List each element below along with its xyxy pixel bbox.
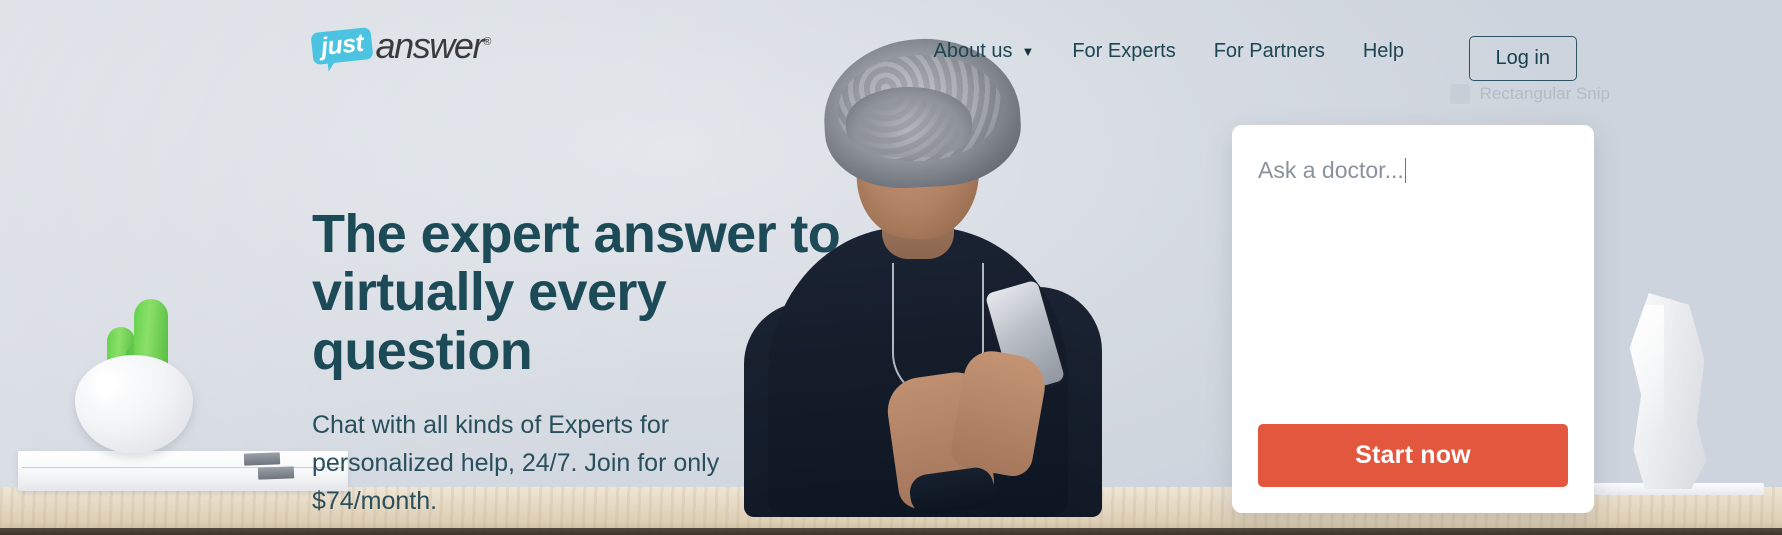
- logo-answer-text: answer®: [375, 28, 489, 64]
- cactus-pot: [75, 355, 193, 453]
- headline-line-1: The expert answer to: [312, 204, 840, 264]
- desk-block-lower: [258, 466, 294, 479]
- text-cursor: [1405, 158, 1407, 183]
- nav-label-for-partners: For Partners: [1214, 40, 1325, 63]
- nav-label-for-experts: For Experts: [1072, 40, 1175, 63]
- book-stack: [18, 451, 348, 491]
- chevron-down-icon: ▼: [1021, 45, 1034, 58]
- nav-item-for-partners[interactable]: For Partners: [1214, 40, 1325, 63]
- logo-just-text: just: [320, 29, 365, 61]
- ask-input-placeholder: Ask a doctor...: [1258, 157, 1404, 184]
- justanswer-logo[interactable]: just answer®: [312, 28, 490, 62]
- hero-subtext: Chat with all kinds of Experts for perso…: [312, 406, 812, 520]
- desk-block-upper: [244, 452, 280, 465]
- nav-item-about-us[interactable]: About us ▼: [934, 40, 1035, 63]
- nav-label-about-us: About us: [934, 40, 1013, 63]
- ask-input-row[interactable]: Ask a doctor...: [1258, 157, 1568, 184]
- headline-line-2: virtually every question: [312, 262, 666, 380]
- logo-answer-word: answer: [375, 25, 483, 66]
- desk-front-edge: [0, 528, 1782, 535]
- page-title: The expert answer to virtually every que…: [312, 205, 872, 380]
- login-button[interactable]: Log in: [1469, 36, 1578, 81]
- start-now-button[interactable]: Start now: [1258, 424, 1568, 487]
- registered-trademark-icon: ®: [483, 36, 490, 48]
- snip-overlay-label: Rectangular Snip: [1480, 84, 1610, 104]
- nav-label-help: Help: [1363, 40, 1404, 63]
- speech-bubble-icon: just: [310, 27, 373, 65]
- nav-item-help[interactable]: Help: [1363, 40, 1404, 63]
- nav-item-for-experts[interactable]: For Experts: [1072, 40, 1175, 63]
- hero-copy: The expert answer to virtually every que…: [312, 205, 872, 520]
- ask-a-doctor-card: Ask a doctor... Start now: [1232, 125, 1594, 513]
- snip-tool-icon: [1450, 84, 1470, 104]
- main-navigation: About us ▼ For Experts For Partners Help: [934, 40, 1404, 63]
- rectangular-snip-overlay: Rectangular Snip: [1450, 84, 1610, 104]
